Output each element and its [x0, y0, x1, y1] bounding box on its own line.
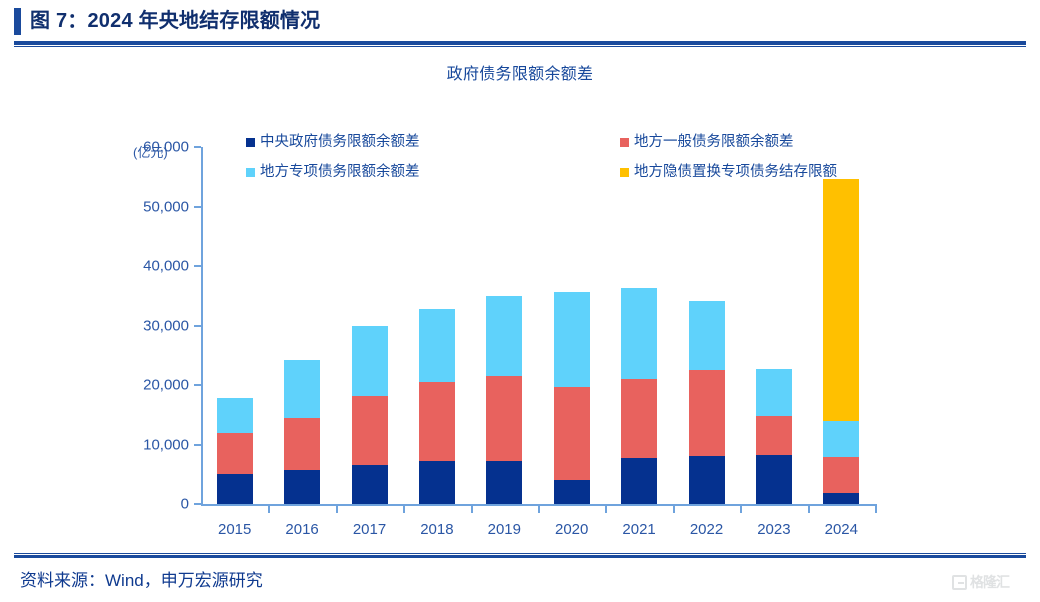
- bar-group-2023[interactable]: [756, 369, 792, 504]
- x-axis-label: 2019: [488, 521, 521, 538]
- x-axis-label: 2015: [218, 521, 251, 538]
- x-axis-label: 2020: [555, 521, 588, 538]
- bar-group-2017[interactable]: [352, 326, 388, 504]
- chart-title: 政府债务限额余额差: [0, 60, 1040, 84]
- x-axis-tick: [538, 504, 540, 513]
- x-axis-label: 2024: [825, 521, 858, 538]
- legend-swatch-icon: [246, 138, 255, 147]
- plot-area: 010,00020,00030,00040,00050,00060,000 20…: [201, 147, 875, 504]
- bar-segment[interactable]: [486, 461, 522, 504]
- header-divider-thin: [14, 46, 1026, 47]
- bar-segment[interactable]: [352, 326, 388, 396]
- x-axis-tick: [875, 504, 877, 513]
- bar-segment[interactable]: [823, 179, 859, 421]
- x-axis-tick: [336, 504, 338, 513]
- bar-segment[interactable]: [284, 418, 320, 470]
- bar-segment[interactable]: [756, 455, 792, 504]
- figure-title-row: 图 7：2024 年央地结存限额情况: [14, 6, 320, 36]
- bar-segment[interactable]: [554, 387, 590, 480]
- x-axis-label: 2022: [690, 521, 723, 538]
- bar-group-2016[interactable]: [284, 360, 320, 504]
- bar-segment[interactable]: [352, 396, 388, 465]
- y-axis-tick: [194, 146, 201, 148]
- x-axis-tick: [471, 504, 473, 513]
- bar-segment[interactable]: [823, 457, 859, 493]
- y-axis-tick: [194, 206, 201, 208]
- bar-group-2015[interactable]: [217, 398, 253, 505]
- bar-segment[interactable]: [284, 360, 320, 418]
- source-note: 资料来源：Wind，申万宏源研究: [20, 566, 263, 591]
- bar-segment[interactable]: [284, 470, 320, 504]
- x-axis-tick: [605, 504, 607, 513]
- bar-segment[interactable]: [689, 301, 725, 371]
- bar-segment[interactable]: [217, 433, 253, 475]
- figure-header: 图 7：2024 年央地结存限额情况: [0, 0, 1040, 48]
- bar-group-2018[interactable]: [419, 309, 455, 504]
- footer-divider-thick: [14, 555, 1026, 558]
- bar-group-2019[interactable]: [486, 296, 522, 504]
- bar-segment[interactable]: [419, 309, 455, 382]
- x-axis-tick: [740, 504, 742, 513]
- x-axis-label: 2021: [622, 521, 655, 538]
- x-axis-tick: [673, 504, 675, 513]
- bar-segment[interactable]: [217, 398, 253, 433]
- x-axis-label: 2018: [420, 521, 453, 538]
- bar-segment[interactable]: [352, 465, 388, 504]
- bar-segment[interactable]: [621, 288, 657, 379]
- y-axis-label: 50,000: [143, 198, 189, 215]
- y-axis-label: 40,000: [143, 258, 189, 275]
- x-axis-tick: [403, 504, 405, 513]
- chart-container: 政府债务限额余额差 (亿元) 中央政府债务限额余额差 地方一般债务限额余额差 地…: [0, 48, 1040, 553]
- x-axis-label: 2023: [757, 521, 790, 538]
- x-axis-label: 2017: [353, 521, 386, 538]
- watermark: 格隆汇: [952, 572, 1009, 592]
- y-axis-tick: [194, 444, 201, 446]
- y-axis-tick: [194, 325, 201, 327]
- y-axis-tick: [194, 384, 201, 386]
- title-accent-bar: [14, 8, 21, 35]
- y-axis-label: 0: [181, 496, 189, 513]
- bar-segment[interactable]: [217, 474, 253, 504]
- bar-segment[interactable]: [486, 376, 522, 461]
- bar-segment[interactable]: [621, 379, 657, 458]
- bar-segment[interactable]: [823, 493, 859, 504]
- bar-group-2024[interactable]: [823, 179, 859, 504]
- y-axis-label: 60,000: [143, 139, 189, 156]
- x-axis-tick: [808, 504, 810, 513]
- bar-segment[interactable]: [419, 382, 455, 461]
- bar-group-2020[interactable]: [554, 292, 590, 504]
- bar-segment[interactable]: [756, 369, 792, 416]
- bar-group-2022[interactable]: [689, 301, 725, 504]
- legend-swatch-icon: [620, 138, 629, 147]
- y-axis-tick: [194, 503, 201, 505]
- bar-segment[interactable]: [689, 370, 725, 456]
- bar-series-group: [201, 147, 875, 504]
- y-axis-tick: [194, 265, 201, 267]
- bar-segment[interactable]: [823, 421, 859, 457]
- y-axis-label: 30,000: [143, 317, 189, 334]
- header-divider-thick: [14, 41, 1026, 45]
- bar-segment[interactable]: [756, 416, 792, 455]
- x-axis-tick: [268, 504, 270, 513]
- watermark-label: 格隆汇: [970, 572, 1009, 592]
- bar-segment[interactable]: [554, 292, 590, 387]
- page-title: 图 7：2024 年央地结存限额情况: [30, 8, 320, 35]
- bar-segment[interactable]: [621, 458, 657, 504]
- footer-divider-thin: [14, 553, 1026, 554]
- bar-segment[interactable]: [554, 480, 590, 504]
- bar-segment[interactable]: [689, 456, 725, 504]
- bar-group-2021[interactable]: [621, 288, 657, 504]
- bar-segment[interactable]: [486, 296, 522, 376]
- figure-page: 图 7：2024 年央地结存限额情况 政府债务限额余额差 (亿元) 中央政府债务…: [0, 0, 1040, 602]
- watermark-logo-icon: [952, 575, 967, 590]
- bar-segment[interactable]: [419, 461, 455, 504]
- x-axis-label: 2016: [285, 521, 318, 538]
- y-axis-label: 20,000: [143, 377, 189, 394]
- y-axis-label: 10,000: [143, 436, 189, 453]
